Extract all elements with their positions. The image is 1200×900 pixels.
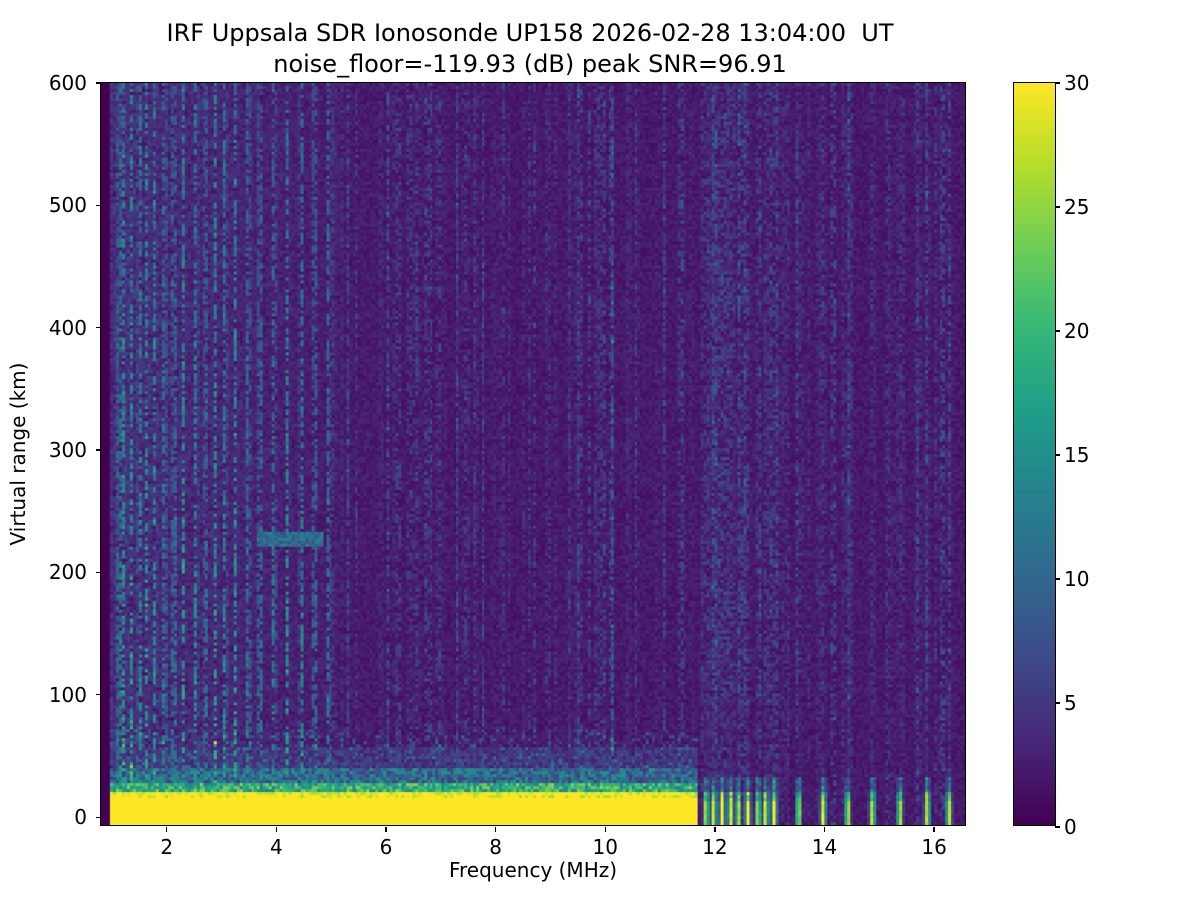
x-axis-tick-label: 8 [456, 837, 536, 857]
x-axis-tick [824, 827, 825, 832]
colorbar-gradient [1014, 83, 1055, 825]
y-axis-tick-label: 100 [49, 685, 87, 705]
colorbar-tick-label: 25 [1064, 197, 1089, 217]
y-axis-tick [96, 694, 101, 695]
y-axis-tick-label: 300 [49, 440, 87, 460]
colorbar-tick [1055, 330, 1060, 331]
colorbar-tick [1055, 206, 1060, 207]
colorbar-tick [1055, 82, 1060, 83]
x-axis-tick [605, 827, 606, 832]
x-axis-tick-label: 16 [894, 837, 974, 857]
x-axis-tick-label: 2 [127, 837, 207, 857]
y-axis-tick [96, 572, 101, 573]
colorbar-tick-label: 10 [1064, 569, 1089, 589]
colorbar-tick-label: 0 [1064, 817, 1077, 837]
colorbar[interactable]: 302520151050 [1013, 82, 1056, 826]
y-axis-tick-label: 400 [49, 318, 87, 338]
ionogram-plot-area[interactable]: 6005004003002001000246810121416 [100, 82, 966, 826]
ionogram-figure: IRF Uppsala SDR Ionosonde UP158 2026-02-… [0, 0, 1200, 900]
x-axis-tick-label: 10 [565, 837, 645, 857]
y-axis-tick-label: 600 [49, 73, 87, 93]
y-axis-label: Virtual range (km) [6, 363, 30, 546]
x-axis-tick [385, 827, 386, 832]
y-axis-tick [96, 82, 101, 83]
y-axis-tick-label: 200 [49, 562, 87, 582]
colorbar-tick-label: 5 [1064, 693, 1077, 713]
colorbar-tick [1055, 578, 1060, 579]
colorbar-tick-label: 20 [1064, 321, 1089, 341]
x-axis-tick [276, 827, 277, 832]
x-axis-tick-label: 12 [675, 837, 755, 857]
figure-title: IRF Uppsala SDR Ionosonde UP158 2026-02-… [0, 18, 1060, 80]
y-axis-tick [96, 449, 101, 450]
colorbar-tick [1055, 454, 1060, 455]
y-axis-tick [96, 205, 101, 206]
x-axis-label: Frequency (MHz) [100, 858, 966, 882]
ionogram-heatmap [101, 83, 965, 825]
x-axis-tick [495, 827, 496, 832]
colorbar-label-wrapper: SNR (dB) [1128, 82, 1130, 826]
colorbar-tick-label: 15 [1064, 445, 1089, 465]
x-axis-tick [933, 827, 934, 832]
y-axis-tick [96, 327, 101, 328]
colorbar-tick-label: 30 [1064, 73, 1089, 93]
y-axis-tick [96, 817, 101, 818]
title-line-2: noise_floor=-119.93 (dB) peak SNR=96.91 [0, 49, 1060, 80]
x-axis-tick [714, 827, 715, 832]
colorbar-tick [1055, 826, 1060, 827]
x-axis-tick-label: 6 [346, 837, 426, 857]
x-axis-tick-label: 4 [236, 837, 316, 857]
y-axis-tick-label: 0 [74, 807, 87, 827]
x-axis-tick-label: 14 [784, 837, 864, 857]
title-line-1: IRF Uppsala SDR Ionosonde UP158 2026-02-… [0, 18, 1060, 49]
y-axis-label-wrapper: Virtual range (km) [22, 82, 24, 826]
x-axis-tick [166, 827, 167, 832]
colorbar-tick [1055, 702, 1060, 703]
y-axis-tick-label: 500 [49, 195, 87, 215]
